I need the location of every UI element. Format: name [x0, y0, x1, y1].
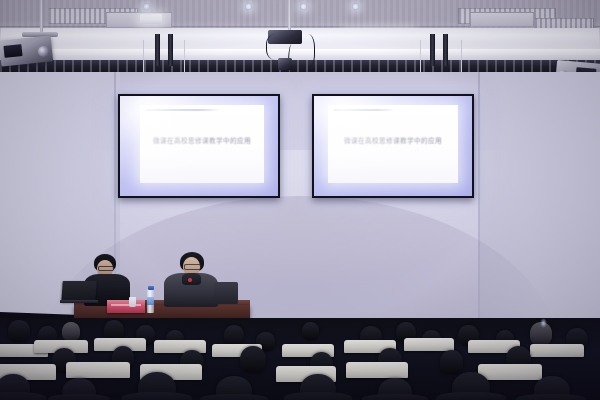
projector-pole — [443, 34, 448, 66]
audience-head — [440, 350, 463, 374]
phone-screen-glow — [540, 318, 547, 328]
audience-shoulders — [122, 392, 192, 400]
presenter-right — [162, 252, 220, 306]
slide-area: 微课在高校思修课教学中的应用 — [328, 105, 458, 183]
hanging-cable — [266, 34, 289, 60]
downlight-icon — [300, 3, 307, 10]
slide-title-right: 微课在高校思修课教学中的应用 — [328, 135, 458, 145]
paper-cup — [129, 297, 136, 307]
audience-shoulders — [516, 394, 586, 400]
audience-head — [62, 322, 80, 341]
glasses-icon — [98, 266, 114, 271]
placard-text-strip — [111, 304, 141, 306]
name-placard — [107, 300, 145, 313]
audience-head — [240, 346, 266, 373]
downlight-icon — [143, 3, 150, 10]
slide-accent-bar — [334, 109, 394, 111]
projector-pole — [40, 0, 43, 34]
recessed-light-panel — [140, 14, 162, 24]
bottle-label — [147, 297, 154, 305]
slide-area: 微课在高校思修课教学中的应用 — [140, 105, 264, 183]
laptop[interactable] — [61, 281, 96, 302]
audience-shoulders — [0, 392, 46, 400]
audience-head — [302, 322, 319, 340]
projector-lens-icon — [38, 46, 49, 57]
downlight-icon — [352, 3, 359, 10]
recessed-light-panel — [470, 12, 534, 27]
audience-shoulders — [362, 394, 428, 400]
laptop-base — [60, 300, 98, 303]
screen-surface: 微课在高校思修课教学中的应用 — [314, 96, 472, 196]
audience-chair — [478, 364, 542, 380]
projector-wire — [461, 40, 462, 76]
lecture-hall-photo: 微课在高校思修课教学中的应用 微课在高校思修课教学中的应用 — [0, 0, 600, 400]
downlight-icon — [245, 3, 252, 10]
projector-vent — [3, 44, 22, 58]
lapel-badge — [188, 278, 192, 282]
projector-pole — [430, 34, 435, 66]
glasses-icon — [184, 264, 201, 270]
audience-head — [8, 320, 30, 342]
projector-pole — [155, 34, 160, 66]
audience-shoulders — [48, 394, 110, 400]
audience-shoulders — [200, 394, 268, 400]
audience-chair — [530, 344, 584, 357]
bottle-cap — [148, 286, 154, 290]
audience-chair — [404, 338, 454, 351]
audience-shoulders — [284, 392, 352, 400]
ceiling-drop-rod — [288, 0, 291, 30]
hanging-cable — [298, 34, 315, 68]
projector-wire — [143, 40, 144, 76]
slide-title-left: 微课在高校思修课教学中的应用 — [140, 135, 264, 145]
audience-chair — [346, 362, 408, 378]
audience-chair — [66, 362, 130, 378]
projection-screen-left[interactable]: 微课在高校思修课教学中的应用 — [118, 94, 280, 198]
screen-surface: 微课在高校思修课教学中的应用 — [120, 96, 278, 196]
audience-head — [224, 325, 244, 346]
projection-screen-right[interactable]: 微课在高校思修课教学中的应用 — [312, 94, 474, 198]
slide-accent-bar — [146, 109, 220, 111]
projector-wire — [184, 40, 185, 76]
recessed-light-panel — [106, 12, 172, 28]
projector-wire — [420, 40, 421, 76]
audience-shoulders — [436, 392, 506, 400]
presenter-chair — [214, 282, 238, 304]
projector-pole — [168, 34, 173, 66]
ceiling-camera — [278, 58, 292, 70]
